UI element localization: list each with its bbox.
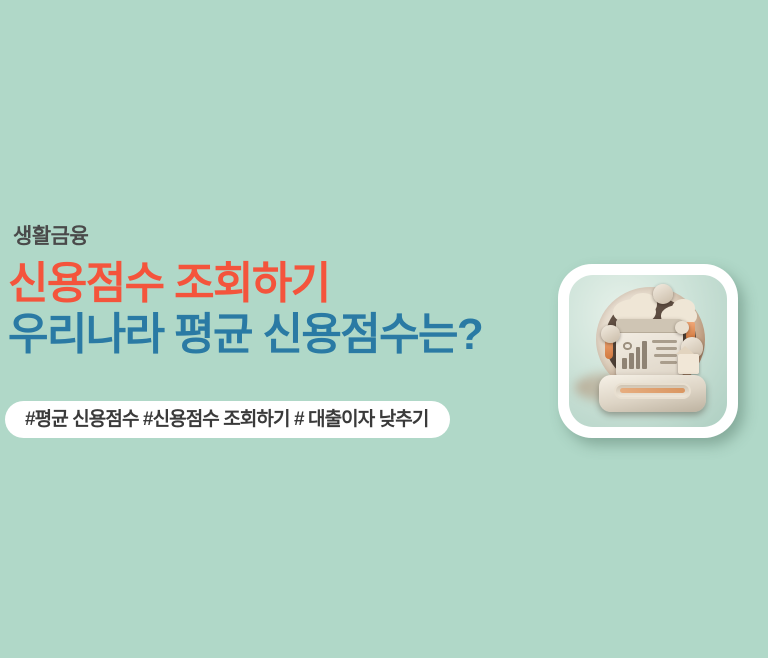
chart-bar <box>629 353 634 369</box>
cloud-icon <box>672 299 696 317</box>
base-slot <box>614 383 691 398</box>
gauge-icon <box>623 342 632 350</box>
category-eyebrow: 생활금융 <box>13 226 570 247</box>
hashtag-text: #평균 신용점수 #신용점수 조회하기 # 대출이자 낮추기 <box>25 410 428 429</box>
promo-banner: 생활금융 신용점수 조회하기 우리나라 평균 신용점수는? #평균 신용점수 #… <box>0 0 768 658</box>
chart-bar <box>642 341 647 369</box>
badge-icon <box>601 325 620 343</box>
house-icon <box>678 354 699 374</box>
headline-line-1: 신용점수 조회하기 <box>8 261 570 308</box>
text-line <box>660 361 677 364</box>
hashtag-pill[interactable]: #평균 신용점수 #신용점수 조회하기 # 대출이자 낮추기 <box>5 401 450 438</box>
chart-bar <box>636 347 641 369</box>
thumbnail-image <box>569 275 727 427</box>
panel-header-bar <box>616 319 682 333</box>
device-base <box>599 375 706 411</box>
text-line <box>652 340 677 343</box>
chart-bar <box>622 358 627 368</box>
report-panel-icon <box>616 319 682 377</box>
thumbnail-card[interactable] <box>558 264 738 438</box>
badge-icon <box>653 284 674 304</box>
text-line <box>654 354 678 357</box>
banner-text-block: 생활금융 신용점수 조회하기 우리나라 평균 신용점수는? <box>0 226 570 368</box>
text-line <box>656 347 677 350</box>
headline-line-2: 우리나라 평균 신용점수는? <box>8 312 570 359</box>
